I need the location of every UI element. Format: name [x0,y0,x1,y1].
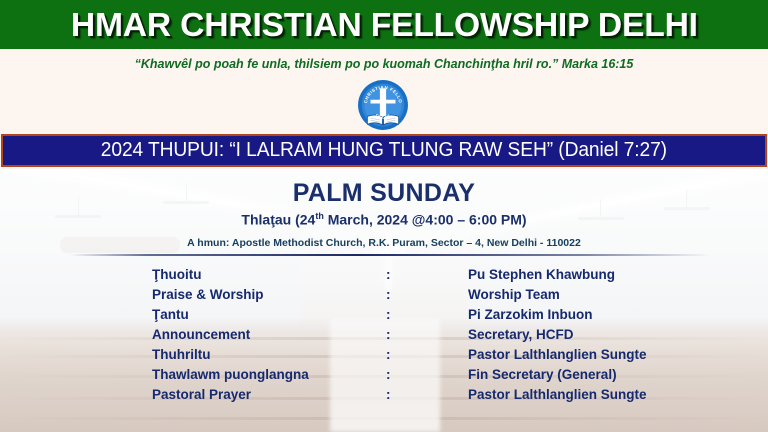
program-item-label: Ţantu [152,305,189,325]
program-separator: : [386,345,391,365]
program-item-label: Thuhriltu [152,345,210,365]
section-divider [70,254,710,256]
fellowship-logo: HMAR CHRISTIAN FELLOWSHIP DELHI [357,79,409,131]
program-separator: : [386,325,391,345]
program-separator: : [386,385,391,405]
event-date-prefix: Thlaţau (24 [241,212,315,228]
program-row: Ţhuoitu:Pu Stephen Khawbung [0,265,768,285]
page-title: HMAR CHRISTIAN FELLOWSHIP DELHI [71,6,698,44]
program-separator: : [386,365,391,385]
program-row: Thuhriltu:Pastor Lalthlanglien Sungte [0,345,768,365]
program-item-label: Announcement [152,325,250,345]
program-row: Praise & Worship:Worship Team [0,285,768,305]
event-venue: A hmun: Apostle Methodist Church, R.K. P… [0,237,768,249]
program-person-name: Pu Stephen Khawbung [468,265,615,285]
program-item-label: Praise & Worship [152,285,264,305]
program-person-name: Worship Team [468,285,560,305]
event-date-suffix: March, 2024 @4:00 – 6:00 PM) [324,212,527,228]
program-row: Thawlawm puonglangna:Fin Secretary (Gene… [0,365,768,385]
bible-verse: “Khawvêl po poah fe unla, thilsiem po po… [0,57,768,71]
program-row: Ţantu:Pi Zarzokim Inbuon [0,305,768,325]
program-separator: : [386,265,391,285]
program-person-name: Fin Secretary (General) [468,365,617,385]
header-bar: HMAR CHRISTIAN FELLOWSHIP DELHI [0,0,768,49]
event-datetime: Thlaţau (24th March, 2024 @4:00 – 6:00 P… [0,211,768,228]
annual-theme-text: 2024 THUPUI: “I LALRAM HUNG TLUNG RAW SE… [101,139,667,162]
program-separator: : [386,305,391,325]
event-content: PALM SUNDAY Thlaţau (24th March, 2024 @4… [0,169,768,432]
event-title: PALM SUNDAY [0,179,768,208]
logo-icon: HMAR CHRISTIAN FELLOWSHIP DELHI [357,79,409,131]
program-item-label: Thawlawm puonglangna [152,365,309,385]
program-separator: : [386,285,391,305]
program-person-name: Pastor Lalthlanglien Sungte [468,385,647,405]
program-person-name: Pastor Lalthlanglien Sungte [468,345,647,365]
program-list: Ţhuoitu:Pu Stephen KhawbungPraise & Wors… [0,265,768,405]
program-row: Announcement:Secretary, HCFD [0,325,768,345]
program-person-name: Secretary, HCFD [468,325,574,345]
program-item-label: Pastoral Prayer [152,385,251,405]
program-item-label: Ţhuoitu [152,265,201,285]
annual-theme-banner: 2024 THUPUI: “I LALRAM HUNG TLUNG RAW SE… [1,134,767,167]
event-date-ordinal: th [315,211,324,221]
program-person-name: Pi Zarzokim Inbuon [468,305,593,325]
program-row: Pastoral Prayer:Pastor Lalthlanglien Sun… [0,385,768,405]
